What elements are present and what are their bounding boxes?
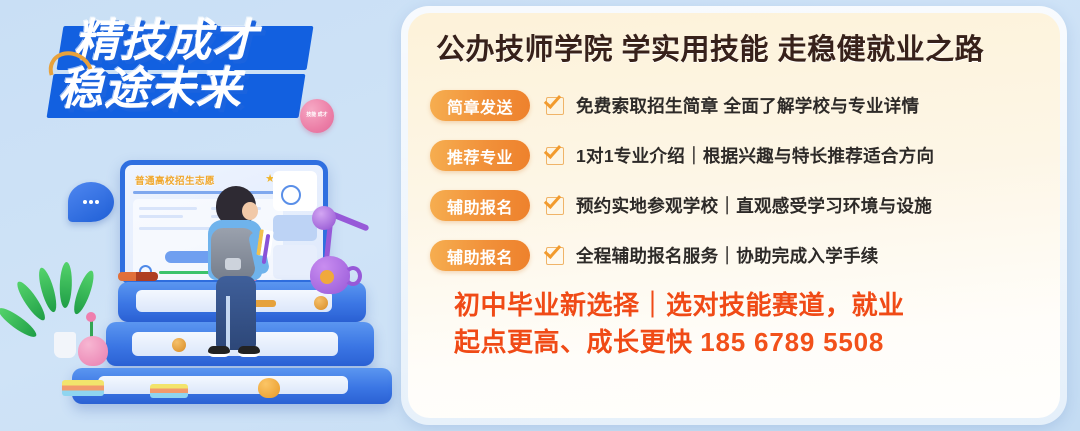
benefit-row[interactable]: 简章发送 免费索取招生简章 全面了解学校与专业详情 <box>430 81 1038 131</box>
benefit-text: 全程辅助报名服务｜协助完成入学手续 <box>576 243 879 268</box>
leaf-icon <box>59 262 73 308</box>
check-icon <box>546 97 564 115</box>
marker-pen-icon <box>118 272 158 281</box>
check-icon <box>546 247 564 265</box>
screen-line <box>139 215 183 218</box>
lamp-head <box>312 206 336 230</box>
flower-pot-icon <box>54 332 76 358</box>
benefit-text: 预约实地参观学校｜直观感受学习环境与设施 <box>576 193 932 218</box>
desk-lamp-icon <box>300 200 366 296</box>
backpack-pocket <box>225 258 241 270</box>
footer-line-2: 起点更高、成长更快 <box>454 327 693 357</box>
book-page <box>98 376 348 394</box>
benefit-text: 免费索取招生简章 全面了解学校与专业详情 <box>576 93 919 118</box>
footer-line-1: 初中毕业新选择｜选对技能赛道，就业 <box>454 287 1038 324</box>
screen-title: 普通高校招生志愿 <box>135 173 215 187</box>
screen-line <box>139 207 197 210</box>
character-face <box>242 202 258 220</box>
panel-headline: 公办技师学院 学实用技能 走稳健就业之路 <box>436 35 1038 67</box>
vase-icon <box>78 336 108 366</box>
benefit-list: 简章发送 免费索取招生简章 全面了解学校与专业详情 推荐专业 1对1专业介绍｜根… <box>430 81 1038 281</box>
bubble-dot-1 <box>83 200 87 204</box>
bubble-dot-2 <box>89 200 93 204</box>
sticky-notes-icon <box>62 380 104 396</box>
hero-badge: 技能 成才 <box>300 99 334 133</box>
student-character <box>198 186 272 372</box>
benefit-row[interactable]: 辅助报名 预约实地参观学校｜直观感受学习环境与设施 <box>430 181 1038 231</box>
footer-line-2-wrap: 起点更高、成长更快 185 6789 5508 <box>454 324 1038 361</box>
book-coin-icon <box>314 296 328 310</box>
benefit-tag[interactable]: 辅助报名 <box>430 190 530 221</box>
book-bottom <box>72 368 392 404</box>
magnifier-icon <box>281 185 301 205</box>
hero-illustration: 普通高校招生志愿 ★ <box>10 150 410 431</box>
character-shoe-left <box>208 346 230 357</box>
character-shoe-right <box>238 346 260 357</box>
leaf-icon <box>70 269 97 316</box>
benefit-tag[interactable]: 推荐专业 <box>430 140 530 171</box>
benefit-tag[interactable]: 辅助报名 <box>430 240 530 271</box>
check-icon <box>546 197 564 215</box>
duck-toy-icon <box>258 378 280 398</box>
flower-bud-icon <box>86 312 96 322</box>
lamp-handle <box>344 266 362 286</box>
phone-number[interactable]: 185 6789 5508 <box>700 327 884 357</box>
check-icon <box>546 147 564 165</box>
info-panel-inner: 公办技师学院 学实用技能 走稳健就业之路 简章发送 免费索取招生简章 全面了解学… <box>408 13 1060 418</box>
sticky-notes-icon <box>150 384 188 398</box>
chat-bubble-icon <box>68 182 114 222</box>
benefit-tag[interactable]: 简章发送 <box>430 90 530 121</box>
panel-footer: 初中毕业新选择｜选对技能赛道，就业 起点更高、成长更快 185 6789 550… <box>454 287 1038 361</box>
character-leg-split <box>226 296 230 350</box>
benefit-text: 1对1专业介绍｜根据兴趣与特长推荐适合方向 <box>576 143 934 168</box>
hero-badge-label: 技能 成才 <box>306 113 327 119</box>
benefit-row[interactable]: 辅助报名 全程辅助报名服务｜协助完成入学手续 <box>430 231 1038 281</box>
info-panel: 公办技师学院 学实用技能 走稳健就业之路 简章发送 免费索取招生简章 全面了解学… <box>401 6 1067 425</box>
book-coin-icon <box>172 338 186 352</box>
lamp-flower-icon <box>320 270 334 284</box>
benefit-row[interactable]: 推荐专业 1对1专业介绍｜根据兴趣与特长推荐适合方向 <box>430 131 1038 181</box>
character-legs <box>216 276 256 350</box>
plant-decoration <box>28 258 100 346</box>
bubble-dot-3 <box>95 200 99 204</box>
hero-section: 精技成才 稳途未来 技能 成才 普通高校招生志愿 ★ <box>0 0 410 431</box>
